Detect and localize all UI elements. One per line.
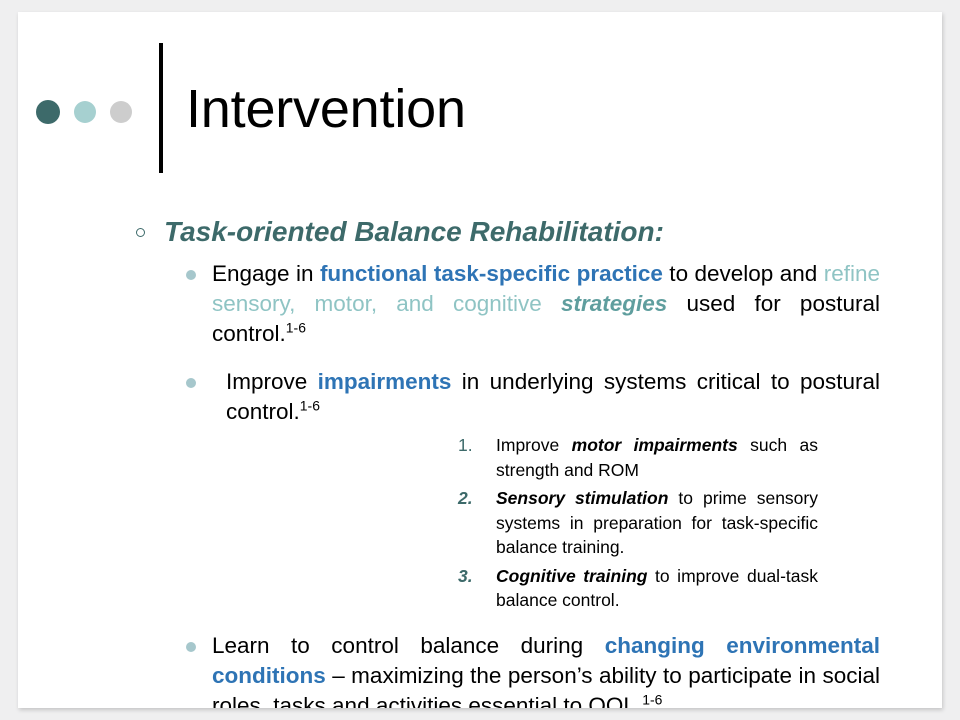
bullet-text: Learn to control balance during changing… [212, 631, 880, 709]
list-item-text: Cognitive training to improve dual-task … [496, 564, 818, 613]
text-run: Engage in [212, 261, 320, 286]
list-item-number: 3. [456, 564, 496, 589]
text-run: to develop and [663, 261, 824, 286]
decor-dot-dark-icon [36, 100, 60, 124]
numbered-sublist: 1.Improve motor impairments such as stre… [456, 433, 818, 613]
list-item-text: Improve motor impairments such as streng… [496, 433, 818, 482]
numbered-list-item: 1.Improve motor impairments such as stre… [456, 433, 818, 482]
page-title: Intervention [186, 79, 466, 139]
hollow-circle-bullet-icon [136, 225, 164, 240]
bullet-dot-icon [186, 270, 196, 280]
bullet-dot-icon [186, 378, 196, 388]
text-run: Learn to control balance during [212, 633, 605, 658]
subheading-text: Task-oriented Balance Rehabilitation: [164, 216, 664, 248]
bullet-item: Improve impairments in underlying system… [18, 367, 942, 613]
text-run: Improve [496, 435, 572, 455]
citation-superscript: 1-6 [642, 691, 662, 707]
bullet-row: Improve impairments in underlying system… [186, 367, 880, 427]
emphasis-bold-italic: motor impairments [572, 435, 738, 455]
slide-title-area: Intervention [18, 12, 942, 187]
bullet-text: Engage in functional task-specific pract… [212, 259, 880, 349]
bullet-item: Engage in functional task-specific pract… [18, 259, 942, 349]
citation-superscript: 1-6 [300, 398, 320, 414]
bullet-text: Improve impairments in underlying system… [226, 367, 880, 427]
emphasis-bold-italic: Cognitive training [496, 566, 647, 586]
bullet-row: Engage in functional task-specific pract… [186, 259, 880, 349]
emphasis-bold-italic: Sensory stimulation [496, 488, 668, 508]
emphasis-blue: impairments [318, 369, 452, 394]
bullet-row: Learn to control balance during changing… [186, 631, 880, 709]
title-divider-bar [159, 43, 163, 173]
decorative-dots [36, 100, 132, 124]
list-item-number: 2. [456, 486, 496, 511]
list-item-text: Sensory stimulation to prime sensory sys… [496, 486, 818, 560]
slide-body: Task-oriented Balance Rehabilitation: En… [18, 187, 942, 708]
bullet-dot-icon [186, 642, 196, 652]
emphasis-blue: functional task-specific practice [320, 261, 663, 286]
bullet-item: Learn to control balance during changing… [18, 631, 942, 709]
decor-dot-gray-icon [110, 101, 132, 123]
text-run: Improve [226, 369, 318, 394]
citation-superscript: 1-6 [286, 320, 306, 336]
numbered-list-item: 2.Sensory stimulation to prime sensory s… [456, 486, 818, 560]
numbered-list-item: 3.Cognitive training to improve dual-tas… [456, 564, 818, 613]
numbered-sublist-wrapper: 1.Improve motor impairments such as stre… [186, 433, 880, 613]
emphasis-teal-bold-italic: strategies [561, 291, 667, 316]
slide-canvas: Intervention Task-oriented Balance Rehab… [18, 12, 942, 708]
decor-dot-teal-icon [74, 101, 96, 123]
bullet-list: Engage in functional task-specific pract… [18, 259, 942, 708]
list-item-number: 1. [456, 433, 496, 458]
subheading-row: Task-oriented Balance Rehabilitation: [136, 216, 896, 248]
